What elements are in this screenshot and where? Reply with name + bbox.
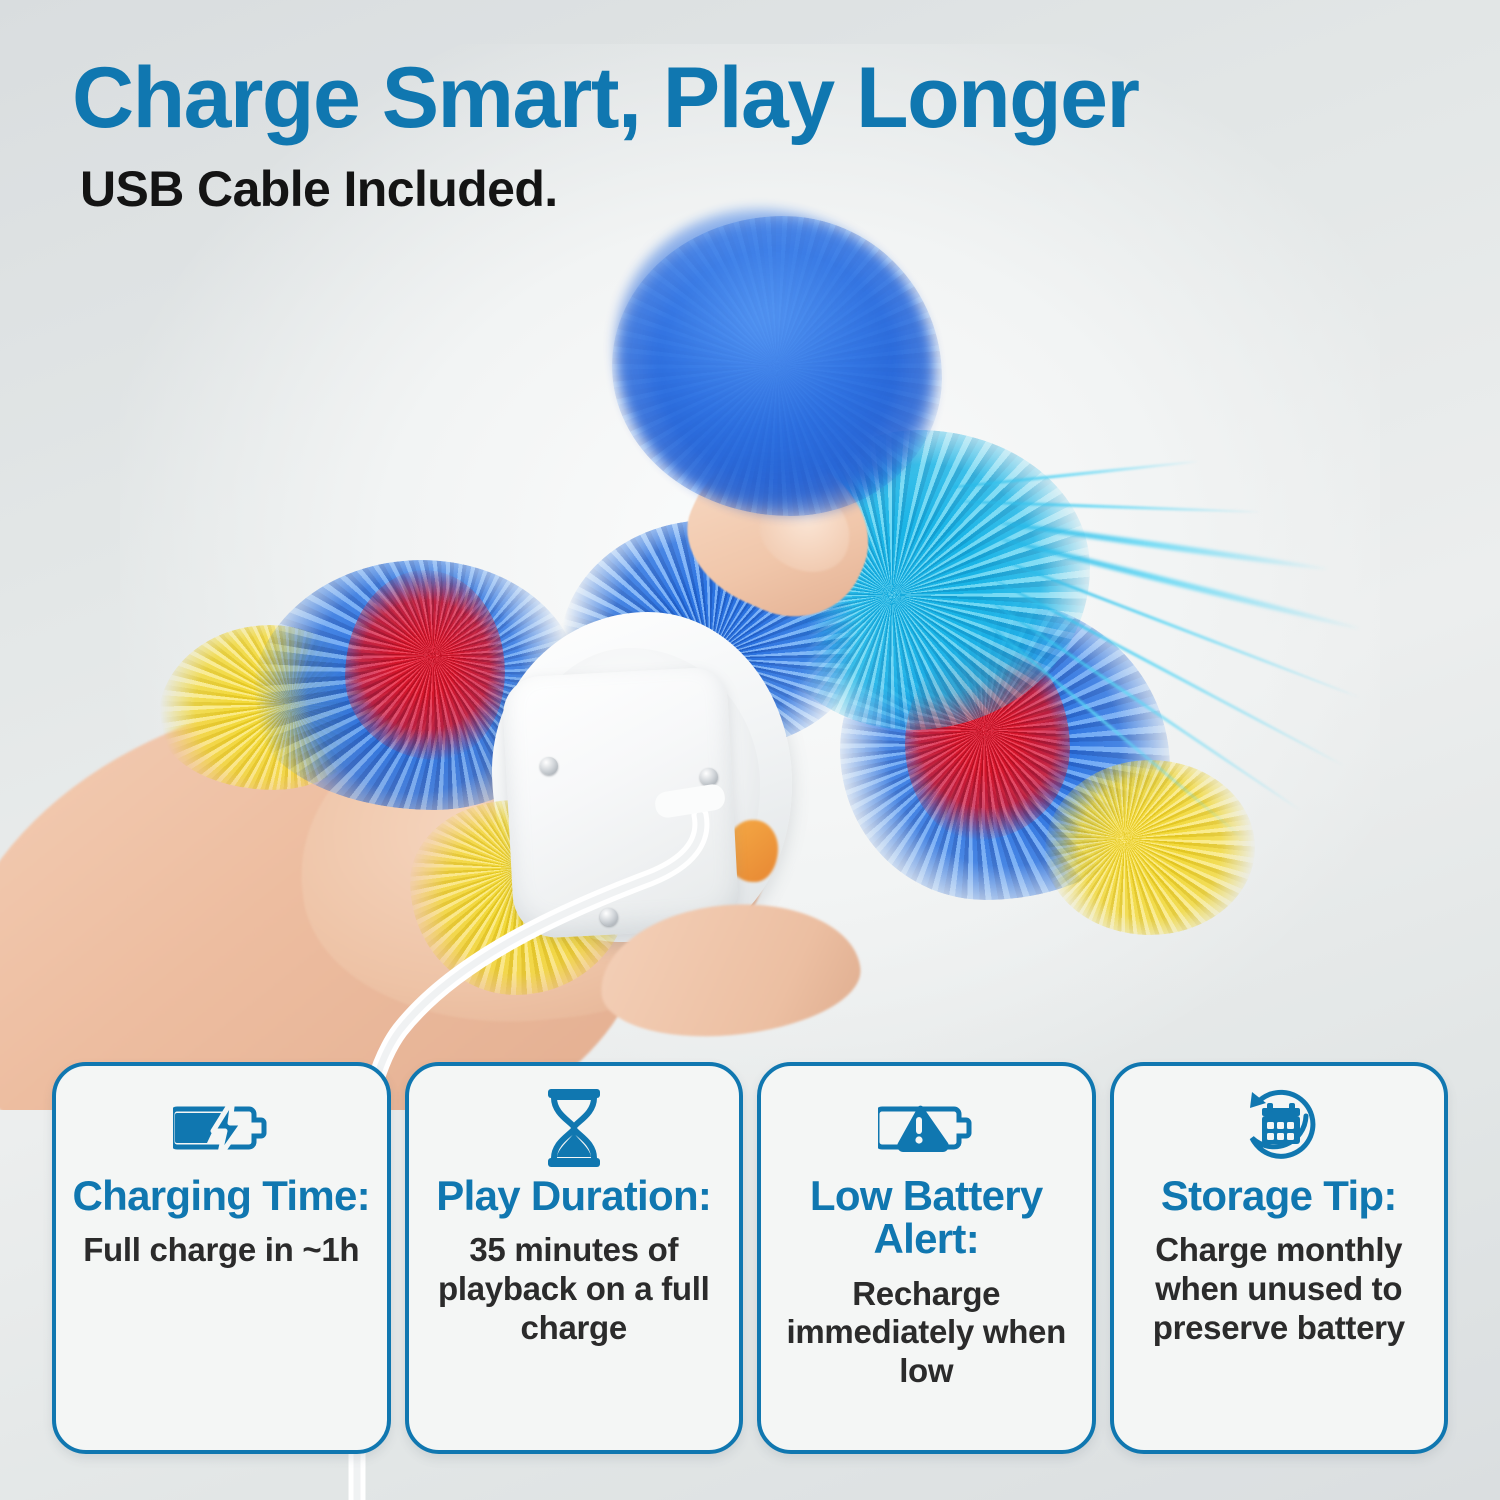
screw xyxy=(700,768,718,786)
card-body: Full charge in ~1h xyxy=(83,1231,359,1270)
feature-card-row: Charging Time: Full charge in ~1h Play D… xyxy=(52,1062,1448,1454)
screw xyxy=(600,908,618,926)
headline-block: Charge Smart, Play Longer USB Cable Incl… xyxy=(72,55,1312,216)
battery-charging-icon xyxy=(173,1088,269,1168)
card-body: Charge monthly when unused to preserve b… xyxy=(1126,1231,1433,1348)
card-title: Play Duration: xyxy=(436,1174,711,1217)
page-subtitle: USB Cable Included. xyxy=(80,163,1312,216)
card-title: Low Battery Alert: xyxy=(773,1174,1080,1261)
calendar-refresh-icon xyxy=(1236,1088,1322,1168)
card-body: 35 minutes of playback on a full charge xyxy=(421,1231,728,1348)
card-body: Recharge immediately when low xyxy=(773,1275,1080,1392)
product-infographic: Charge Smart, Play Longer USB Cable Incl… xyxy=(0,0,1500,1500)
card-title: Charging Time: xyxy=(73,1174,370,1217)
fur-tuft-red-left xyxy=(345,570,505,760)
fur-tuft-yellow-right xyxy=(1045,760,1255,935)
feature-card-low-battery-alert: Low Battery Alert: Recharge immediately … xyxy=(757,1062,1096,1454)
feature-card-storage-tip: Storage Tip: Charge monthly when unused … xyxy=(1110,1062,1449,1454)
card-title: Storage Tip: xyxy=(1161,1174,1397,1217)
pompom-core xyxy=(650,250,900,475)
battery-low-alert-icon xyxy=(878,1088,974,1168)
motor-module xyxy=(501,666,739,939)
screw xyxy=(540,757,558,775)
hourglass-icon xyxy=(540,1088,608,1168)
feature-card-charging-time: Charging Time: Full charge in ~1h xyxy=(52,1062,391,1454)
page-title: Charge Smart, Play Longer xyxy=(72,55,1312,141)
feature-card-play-duration: Play Duration: 35 minutes of playback on… xyxy=(405,1062,744,1454)
